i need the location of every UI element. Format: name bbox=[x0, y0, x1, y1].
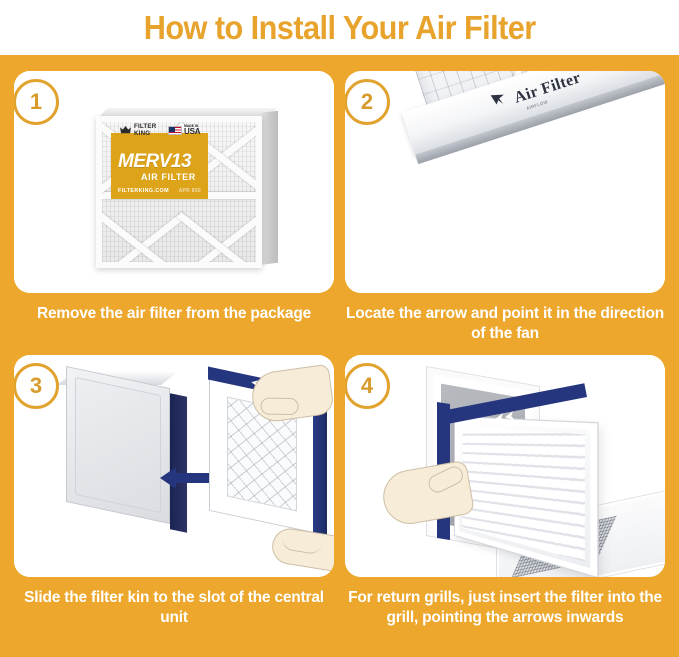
step-3-card: 3 bbox=[14, 355, 334, 577]
header: How to Install Your Air Filter bbox=[0, 0, 679, 55]
grill-louvers bbox=[463, 426, 585, 561]
step-caption-4: For return grills, just insert the filte… bbox=[345, 588, 665, 628]
filter-corner-photo: Air Filter AIRFLOW bbox=[375, 71, 665, 250]
step-2-card: Air Filter AIRFLOW 2 bbox=[345, 71, 665, 293]
step-number-badge-4: 4 bbox=[345, 363, 390, 409]
made-in-usa-text: MADE IN USA bbox=[184, 125, 200, 136]
step-caption-3: Slide the filter kin to the slot of the … bbox=[14, 588, 334, 628]
website-label: FILTERKING.COM bbox=[118, 188, 169, 194]
page-title: How to Install Your Air Filter bbox=[144, 9, 536, 47]
merv-rating: MERV13 bbox=[118, 151, 191, 173]
filter-front-face: FILTER KING MADE IN USA bbox=[96, 116, 262, 268]
central-unit-slot bbox=[75, 377, 161, 513]
return-grill-door bbox=[455, 417, 597, 577]
steps-board: FILTER KING MADE IN USA bbox=[0, 55, 679, 657]
step-panel-1: FILTER KING MADE IN USA bbox=[14, 71, 334, 324]
usa-flag-icon bbox=[168, 126, 182, 135]
made-in-usa-mark: MADE IN USA bbox=[168, 125, 200, 136]
step-number-badge-2: 2 bbox=[345, 79, 390, 125]
country-label: USA bbox=[184, 128, 200, 136]
merv13-filter-photo: FILTER KING MADE IN USA bbox=[96, 108, 278, 268]
step-panel-3: 3 Slide the filter kin to the slot of th… bbox=[14, 355, 334, 628]
apr-label: APR 850 bbox=[179, 188, 201, 194]
central-unit-face bbox=[66, 366, 170, 524]
crown-icon bbox=[120, 126, 131, 135]
step-4-artwork bbox=[345, 355, 665, 577]
step-1-card: FILTER KING MADE IN USA bbox=[14, 71, 334, 293]
step-number-badge-1: 1 bbox=[14, 79, 59, 125]
step-panel-2: Air Filter AIRFLOW 2 Locate the arrow an… bbox=[345, 71, 665, 344]
slide-direction-arrow-icon bbox=[160, 465, 212, 491]
brand-text: FILTER KING bbox=[134, 124, 156, 137]
filter-king-logo: FILTER KING bbox=[120, 124, 156, 137]
product-type-label: AIR FILTER bbox=[141, 172, 196, 182]
brand-line-2: KING bbox=[134, 131, 156, 138]
step-caption-1: Remove the air filter from the package bbox=[14, 304, 334, 324]
step-3-artwork bbox=[14, 355, 334, 577]
step-4-card: 4 bbox=[345, 355, 665, 577]
merv13-label: MERV13 AIR FILTER FILTERKING.COM APR 850 bbox=[111, 133, 208, 199]
step-number-badge-3: 3 bbox=[14, 363, 59, 409]
step-2-artwork: Air Filter AIRFLOW bbox=[345, 71, 665, 293]
steps-grid: FILTER KING MADE IN USA bbox=[0, 55, 679, 657]
infographic-root: How to Install Your Air Filter bbox=[0, 0, 679, 657]
step-panel-4: 4 For return grills, just insert the fil… bbox=[345, 355, 665, 628]
hand-lower bbox=[270, 526, 334, 572]
step-caption-2: Locate the arrow and point it in the dir… bbox=[345, 304, 665, 344]
step-1-artwork: FILTER KING MADE IN USA bbox=[14, 71, 334, 293]
central-unit-side bbox=[170, 393, 187, 533]
